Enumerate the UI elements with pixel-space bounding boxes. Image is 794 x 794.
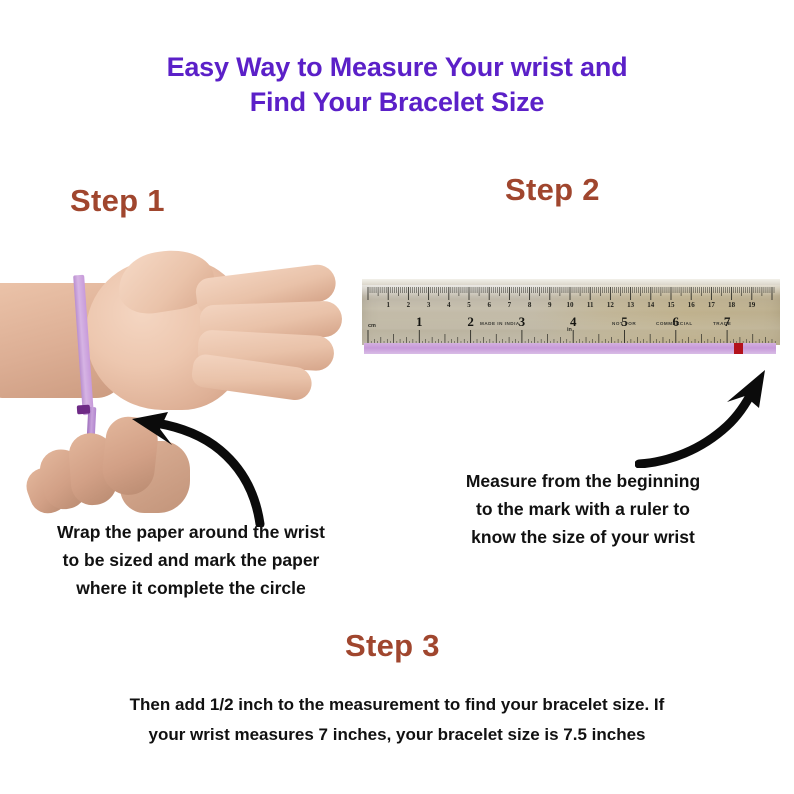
step-2-caption-line-3: know the size of your wrist	[408, 523, 758, 551]
ruler-measurement-photo: 12345678910111213141516171819 1234567 cm…	[362, 277, 780, 363]
step-2-caption: Measure from the beginning to the mark w…	[408, 467, 758, 551]
ruler-inch-unit-label: in	[567, 327, 572, 333]
svg-text:2: 2	[467, 314, 474, 329]
step-3-heading: Step 3	[345, 628, 440, 664]
svg-text:5: 5	[467, 301, 471, 309]
svg-text:10: 10	[567, 301, 575, 309]
curved-arrow-to-ruler-mark-icon	[635, 368, 785, 468]
svg-text:15: 15	[668, 301, 676, 309]
svg-text:16: 16	[688, 301, 696, 309]
ruler-cm-unit-label: cm	[368, 323, 376, 329]
page-title-line-2: Find Your Bracelet Size	[0, 85, 794, 120]
svg-text:17: 17	[708, 301, 716, 309]
step-3-caption-line-2: your wrist measures 7 inches, your brace…	[47, 720, 747, 750]
step-2-heading: Step 2	[505, 172, 600, 208]
step-1-caption-line-2: to be sized and mark the paper	[8, 546, 374, 574]
svg-text:12: 12	[607, 301, 615, 309]
ruler-paper-red-mark	[734, 343, 743, 354]
svg-text:8: 8	[528, 301, 532, 309]
svg-text:19: 19	[748, 301, 756, 309]
svg-text:1: 1	[386, 301, 390, 309]
svg-text:6: 6	[487, 301, 491, 309]
step-1-caption-line-1: Wrap the paper around the wrist	[8, 518, 374, 546]
step-2-caption-line-1: Measure from the beginning	[408, 467, 758, 495]
svg-text:4: 4	[447, 301, 451, 309]
ruler-engraving-not-for: NOT FOR	[612, 321, 636, 326]
svg-text:1: 1	[416, 314, 423, 329]
wrist-strip-mark	[77, 405, 91, 415]
curved-arrow-to-wrist-mark-icon	[110, 412, 280, 527]
ruler-engraving-trade: TRADE	[713, 321, 731, 326]
svg-text:11: 11	[587, 301, 594, 309]
step-1-caption: Wrap the paper around the wrist to be si…	[8, 518, 374, 602]
svg-text:14: 14	[647, 301, 655, 309]
svg-text:9: 9	[548, 301, 552, 309]
ruler-paper-strip	[364, 343, 776, 354]
step-3-caption-line-1: Then add 1/2 inch to the measurement to …	[47, 690, 747, 720]
svg-text:3: 3	[427, 301, 431, 309]
ruler-engraving-commercial: COMMERCIAL	[656, 321, 693, 326]
page-title-line-1: Easy Way to Measure Your wrist and	[0, 50, 794, 85]
ruler-engraving-made-in-india: MADE IN INDIA	[480, 321, 520, 326]
svg-text:7: 7	[508, 301, 512, 309]
page-title: Easy Way to Measure Your wrist and Find …	[0, 50, 794, 120]
step-2-caption-line-2: to the mark with a ruler to	[408, 495, 758, 523]
step-1-heading: Step 1	[70, 183, 165, 219]
svg-text:18: 18	[728, 301, 736, 309]
svg-text:13: 13	[627, 301, 635, 309]
svg-text:2: 2	[407, 301, 411, 309]
step-1-caption-line-3: where it complete the circle	[8, 574, 374, 602]
step-3-caption: Then add 1/2 inch to the measurement to …	[47, 690, 747, 750]
